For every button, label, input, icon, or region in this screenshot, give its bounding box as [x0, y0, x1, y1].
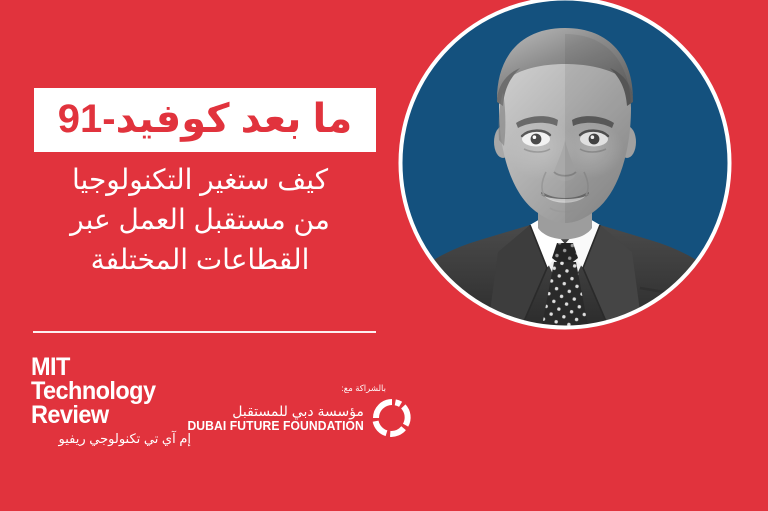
subtitle-line-2: من مستقبل العمل عبر	[24, 200, 376, 240]
subtitle-line-3: القطاعات المختلفة	[24, 240, 376, 280]
subtitle-block: كيف ستغير التكنولوجيا من مستقبل العمل عب…	[14, 160, 386, 279]
partner-name-english: DUBAI FUTURE FOUNDATION	[187, 419, 363, 433]
partner-wordmark: مؤسسة دبي للمستقبل DUBAI FUTURE FOUNDATI…	[182, 403, 364, 433]
partner-lockup: بالشراكة مع: مؤسسة دبي للمستقبل DUBAI FU…	[182, 383, 387, 445]
partner-name-arabic: مؤسسة دبي للمستقبل	[182, 403, 364, 419]
partnership-prefix-label: بالشراكة مع:	[341, 383, 386, 394]
headline-text: ما بعد كوفيد-19	[58, 99, 353, 139]
mit-technology-review-logo: MIT Technology Review إم آي تي تكنولوجي …	[31, 356, 191, 447]
text-column: ما بعد كوفيد-19 كيف ستغير التكنولوجيا من…	[0, 0, 400, 511]
dubai-future-foundation-logo: مؤسسة دبي للمستقبل DUBAI FUTURE FOUNDATI…	[182, 398, 412, 438]
event-promo-card: ما بعد كوفيد-19 كيف ستغير التكنولوجيا من…	[0, 0, 768, 511]
horizontal-divider	[33, 331, 376, 333]
subtitle-line-1: كيف ستغير التكنولوجيا	[24, 160, 376, 200]
speaker-portrait	[402, 0, 728, 326]
mit-logo-arabic-name: إم آي تي تكنولوجي ريفيو	[31, 431, 191, 447]
headline-banner: ما بعد كوفيد-19	[34, 88, 376, 152]
mit-logo-line-3: Review	[31, 404, 181, 428]
speaker-portrait-image	[402, 0, 728, 466]
